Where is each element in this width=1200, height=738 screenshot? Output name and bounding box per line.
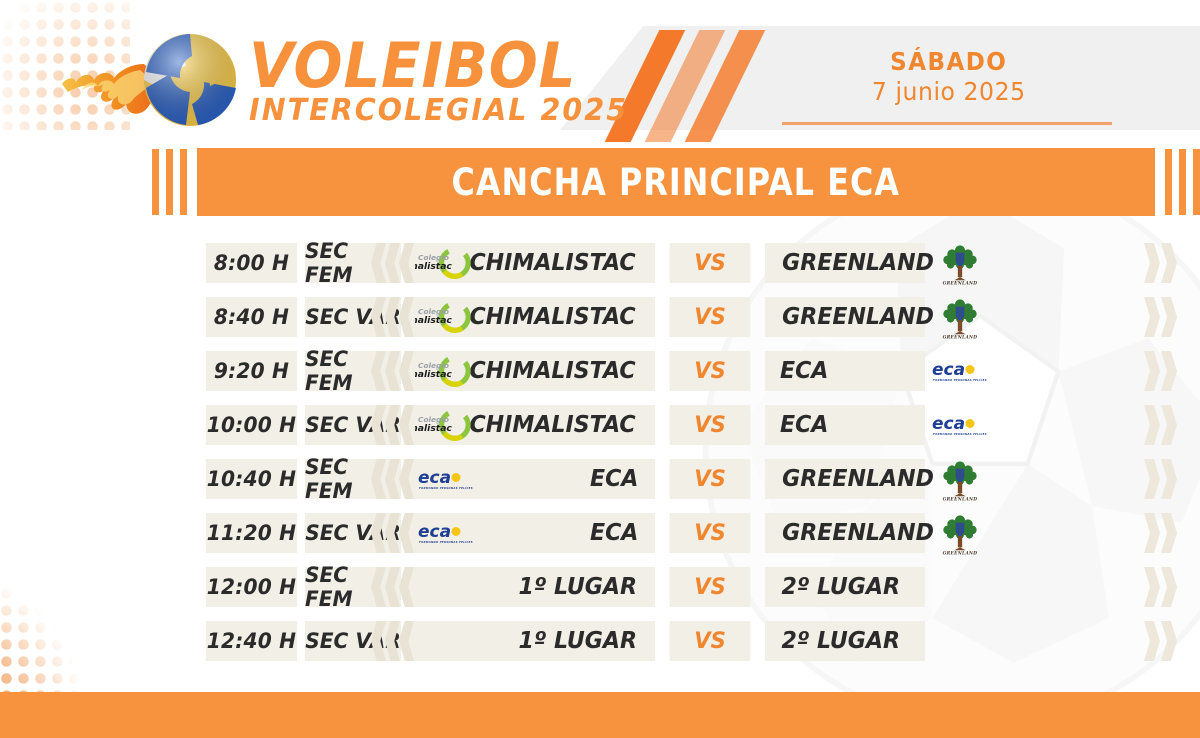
home-team-name: 1º LUGAR — [518, 574, 637, 600]
away-team-name: GREENLAND — [782, 304, 934, 330]
svg-text:GREENLAND: GREENLAND — [943, 335, 978, 339]
match-row: 10:40 H SEC FEM eca FORMANDO PERSONAS FE… — [204, 452, 1200, 506]
home-team-name: CHIMALISTAC — [469, 250, 635, 276]
chimalistac-logo: Colegio Chimalistac — [415, 406, 477, 444]
versus-label: VS — [670, 297, 751, 337]
away-team-logo: eca FORMANDO PERSONAS FELICES — [927, 405, 993, 445]
away-team-logo: GREENLAND — [927, 297, 993, 337]
flaming-volleyball-icon — [58, 30, 243, 130]
match-row: 10:00 H SEC VAR Colegio Chimalistac CHIM… — [204, 398, 1200, 452]
home-team: Colegio Chimalistac CHIMALISTAC — [407, 243, 655, 283]
banner-ticks-right — [1165, 148, 1200, 216]
event-wordmark: VOLEIBOL INTERCOLEGIAL 2025 — [249, 37, 648, 127]
home-team: eca FORMANDO PERSONAS FELICES ECA — [407, 459, 655, 499]
away-team: GREENLAND GREENLAND — [765, 513, 925, 553]
away-team-logo — [927, 621, 993, 661]
chimalistac-logo: Colegio Chimalistac — [415, 244, 477, 282]
svg-text:Chimalistac: Chimalistac — [415, 315, 452, 326]
versus-label: VS — [670, 567, 751, 607]
eca-logo: eca FORMANDO PERSONAS FELICES — [416, 466, 476, 492]
chevron-right-icon — [1144, 297, 1178, 337]
away-team-logo: GREENLAND — [927, 243, 993, 283]
chevron-right-icon — [1144, 405, 1178, 445]
venue-title-bar: CANCHA PRINCIPAL ECA — [197, 148, 1155, 216]
match-time: 10:40 H — [206, 459, 297, 499]
away-team-name: 2º LUGAR — [781, 628, 900, 654]
chevron-right-icon — [1144, 621, 1178, 661]
home-team: 1º LUGAR — [407, 567, 655, 607]
match-time: 12:40 H — [206, 621, 297, 661]
versus-label: VS — [670, 513, 751, 553]
away-team: GREENLAND GREENLAND — [765, 243, 925, 283]
match-row: 11:20 H SEC VAR eca FORMANDO PERSONAS FE… — [204, 506, 1200, 560]
versus-label: VS — [670, 351, 751, 391]
svg-text:FORMANDO PERSONAS FELICES: FORMANDO PERSONAS FELICES — [933, 432, 987, 436]
chevron-right-icon — [1144, 351, 1178, 391]
greenland-logo: GREENLAND — [938, 511, 982, 556]
home-team: 1º LUGAR — [407, 621, 655, 661]
svg-text:FORMANDO PERSONAS FELICES: FORMANDO PERSONAS FELICES — [419, 486, 473, 490]
away-team: GREENLAND GREENLAND — [765, 459, 925, 499]
eca-logo: eca FORMANDO PERSONAS FELICES — [416, 520, 476, 546]
away-team: GREENLAND GREENLAND — [765, 297, 925, 337]
svg-text:eca: eca — [418, 522, 451, 542]
home-team-name: 1º LUGAR — [518, 628, 637, 654]
away-team-name: GREENLAND — [782, 520, 934, 546]
match-time: 8:00 H — [206, 243, 297, 283]
away-team-logo: GREENLAND — [927, 513, 993, 553]
page-header: SÁBADO 7 junio 2025 — [0, 0, 1200, 148]
svg-text:GREENLAND: GREENLAND — [943, 551, 978, 555]
svg-text:GREENLAND: GREENLAND — [943, 281, 978, 285]
versus-label: VS — [670, 405, 751, 445]
home-team-logo: Colegio Chimalistac — [415, 243, 477, 283]
svg-text:FORMANDO PERSONAS FELICES: FORMANDO PERSONAS FELICES — [933, 378, 987, 382]
match-time: 9:20 H — [206, 351, 297, 391]
chevron-right-icon — [1144, 567, 1178, 607]
match-row: 8:40 H SEC VAR Colegio Chimalistac CHIMA… — [204, 290, 1200, 344]
versus-label: VS — [670, 243, 751, 283]
date-weekday: SÁBADO — [873, 48, 1023, 76]
chimalistac-logo: Colegio Chimalistac — [415, 298, 477, 336]
svg-text:FORMANDO PERSONAS FELICES: FORMANDO PERSONAS FELICES — [419, 540, 473, 544]
home-team-logo — [415, 621, 477, 661]
svg-text:Chimalistac: Chimalistac — [415, 261, 452, 272]
away-team-name: ECA — [780, 412, 828, 438]
svg-text:eca: eca — [418, 468, 451, 488]
home-team-logo: Colegio Chimalistac — [415, 351, 477, 391]
home-team-logo: eca FORMANDO PERSONAS FELICES — [415, 459, 477, 499]
event-title-main: VOLEIBOL — [249, 37, 620, 95]
away-team: ECA eca FORMANDO PERSONAS FELICES — [765, 351, 925, 391]
home-team-logo: Colegio Chimalistac — [415, 297, 477, 337]
match-time: 12:00 H — [206, 567, 297, 607]
away-team-logo: GREENLAND — [927, 459, 993, 499]
chevron-right-icon — [1144, 243, 1178, 283]
event-title-sub: INTERCOLEGIAL 2025 — [249, 95, 628, 127]
venue-banner: CANCHA PRINCIPAL ECA — [0, 146, 1200, 218]
match-schedule: 8:00 H SEC FEM Colegio Chimalistac CHIMA… — [0, 236, 1200, 668]
away-team-name: ECA — [780, 358, 828, 384]
event-logo: VOLEIBOL INTERCOLEGIAL 2025 — [58, 30, 648, 130]
chimalistac-logo: Colegio Chimalistac — [415, 352, 477, 390]
venue-title-text: CANCHA PRINCIPAL ECA — [452, 161, 901, 204]
eca-logo: eca FORMANDO PERSONAS FELICES — [930, 412, 990, 438]
match-time: 11:20 H — [206, 513, 297, 553]
versus-label: VS — [670, 459, 751, 499]
svg-text:Chimalistac: Chimalistac — [415, 369, 452, 380]
away-team: 2º LUGAR — [765, 621, 925, 661]
home-team-name: ECA — [590, 466, 638, 492]
home-team-logo — [415, 567, 477, 607]
svg-text:eca: eca — [932, 414, 965, 434]
home-team: Colegio Chimalistac CHIMALISTAC — [407, 351, 655, 391]
home-team-logo: eca FORMANDO PERSONAS FELICES — [415, 513, 477, 553]
home-team-name: CHIMALISTAC — [469, 412, 635, 438]
home-team-name: ECA — [590, 520, 638, 546]
banner-ticks-left — [152, 148, 187, 216]
bottom-accent-bar — [0, 692, 1200, 738]
greenland-logo: GREENLAND — [938, 457, 982, 502]
svg-text:Chimalistac: Chimalistac — [415, 423, 452, 434]
svg-text:eca: eca — [932, 360, 965, 380]
away-team-logo: eca FORMANDO PERSONAS FELICES — [927, 351, 993, 391]
away-team-name: 2º LUGAR — [781, 574, 900, 600]
away-team: 2º LUGAR — [765, 567, 925, 607]
eca-logo: eca FORMANDO PERSONAS FELICES — [930, 358, 990, 384]
greenland-logo: GREENLAND — [938, 295, 982, 340]
match-row: 8:00 H SEC FEM Colegio Chimalistac CHIMA… — [204, 236, 1200, 290]
match-time: 8:40 H — [206, 297, 297, 337]
home-team: Colegio Chimalistac CHIMALISTAC — [407, 297, 655, 337]
svg-text:GREENLAND: GREENLAND — [943, 497, 978, 501]
home-team: eca FORMANDO PERSONAS FELICES ECA — [407, 513, 655, 553]
chevron-right-icon — [1144, 513, 1178, 553]
match-row: 12:40 H SEC VAR 1º LUGAR VS 2º LUGAR — [204, 614, 1200, 668]
home-team: Colegio Chimalistac CHIMALISTAC — [407, 405, 655, 445]
away-team: ECA eca FORMANDO PERSONAS FELICES — [765, 405, 925, 445]
match-row: 9:20 H SEC FEM Colegio Chimalistac CHIMA… — [204, 344, 1200, 398]
date-underline — [782, 122, 1112, 125]
match-time: 10:00 H — [206, 405, 297, 445]
event-date: SÁBADO 7 junio 2025 — [867, 48, 1031, 107]
away-team-name: GREENLAND — [782, 250, 934, 276]
home-team-name: CHIMALISTAC — [469, 304, 635, 330]
greenland-logo: GREENLAND — [938, 241, 982, 286]
away-team-logo — [927, 567, 993, 607]
home-team-logo: Colegio Chimalistac — [415, 405, 477, 445]
match-row: 12:00 H SEC FEM 1º LUGAR VS 2º LUGAR — [204, 560, 1200, 614]
versus-label: VS — [670, 621, 751, 661]
away-team-name: GREENLAND — [782, 466, 934, 492]
home-team-name: CHIMALISTAC — [469, 358, 635, 384]
chevron-right-icon — [1144, 459, 1178, 499]
date-value: 7 junio 2025 — [871, 76, 1025, 107]
